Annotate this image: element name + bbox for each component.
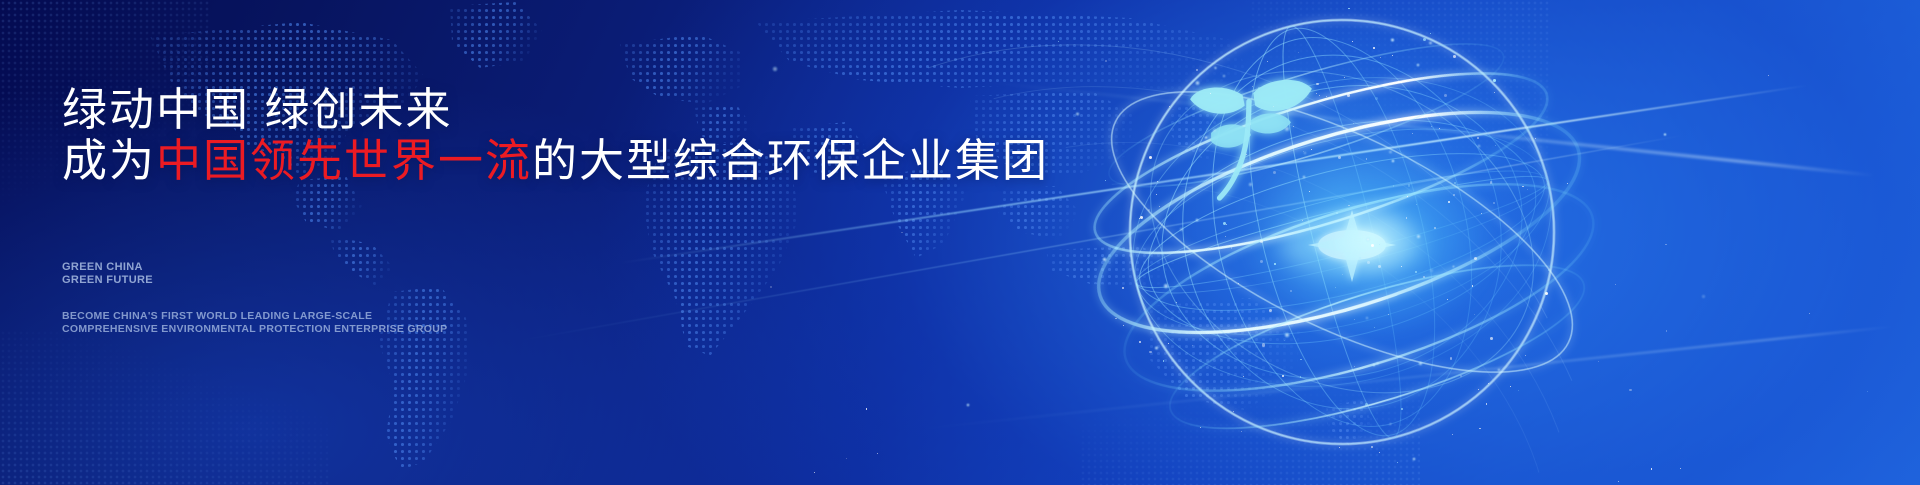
english-paragraph-line-2: COMPREHENSIVE ENVIRONMENTAL PROTECTION E…	[62, 323, 447, 336]
banner-copy: 绿动中国 绿创未来 成为中国领先世界一流的大型综合环保企业集团 GREEN CH…	[62, 0, 1062, 485]
sprout-icon	[1190, 80, 1312, 198]
light-streak-upper	[980, 80, 1875, 177]
english-tagline: GREEN CHINA GREEN FUTURE	[62, 261, 153, 288]
globe-graphic	[1060, 0, 1620, 485]
dot-texture-bottom-right	[1080, 380, 1420, 485]
hero-banner: 绿动中国 绿创未来 成为中国领先世界一流的大型综合环保企业集团 GREEN CH…	[0, 0, 1920, 485]
english-paragraph-line-1: BECOME CHINA'S FIRST WORLD LEADING LARGE…	[62, 310, 447, 323]
headline-highlight: 中国领先世界一流	[156, 135, 532, 186]
globe-core-glow	[1240, 140, 1500, 340]
headline-line-2: 成为中国领先世界一流的大型综合环保企业集团	[62, 135, 1049, 187]
english-paragraph: BECOME CHINA'S FIRST WORLD LEADING LARGE…	[62, 310, 447, 336]
english-tagline-line-2: GREEN FUTURE	[62, 274, 153, 287]
headline-suffix: 的大型综合环保企业集团	[532, 135, 1049, 186]
starburst-icon	[1280, 210, 1424, 282]
dot-texture-mid-right	[1250, 0, 1550, 250]
headline-prefix: 成为	[62, 135, 156, 186]
headline-line-1: 绿动中国 绿创未来	[62, 84, 453, 136]
english-tagline-line-1: GREEN CHINA	[62, 261, 153, 274]
